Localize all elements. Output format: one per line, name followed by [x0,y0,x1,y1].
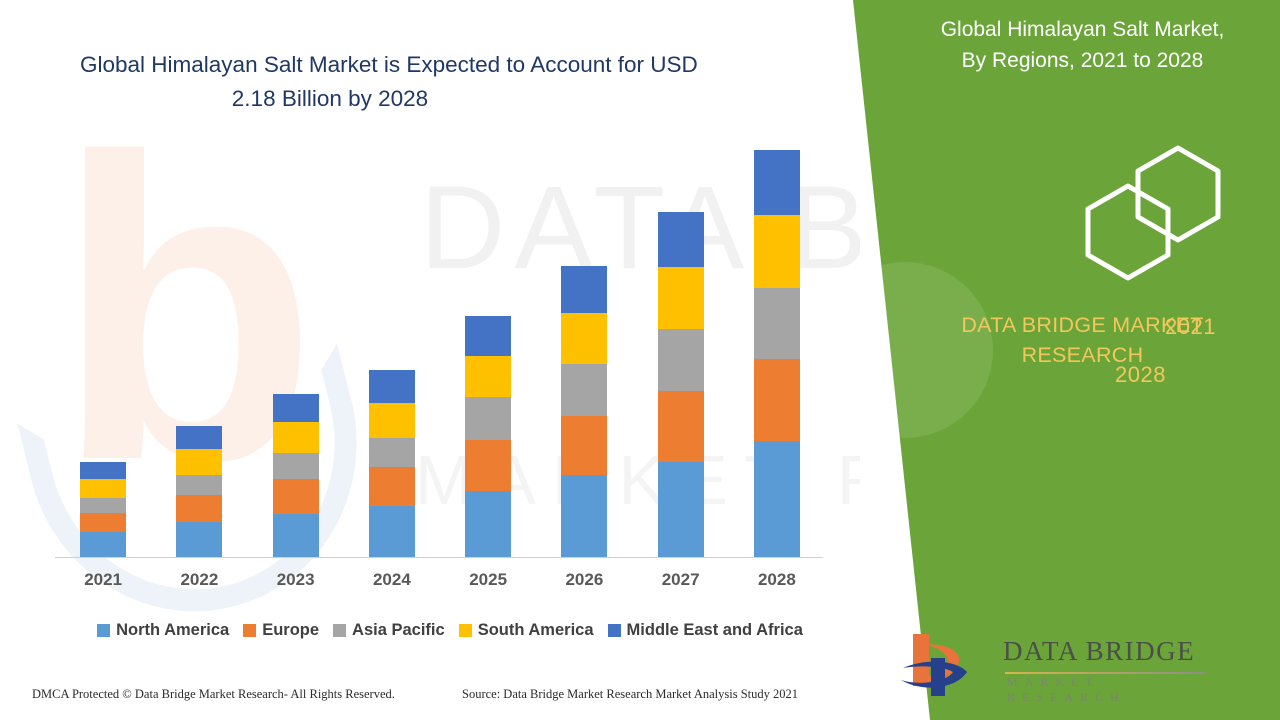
panel-title-line1: Global Himalayan Salt Market, [890,14,1275,45]
hexagon-badges: 2021 2028 [980,140,1270,290]
legend-item[interactable]: Asia Pacific [333,621,445,640]
hexagon-outlines-icon [980,140,1270,290]
bar-segment [369,370,415,403]
bar-segment [369,467,415,507]
x-axis-tick: 2026 [561,570,607,590]
legend-label: Europe [262,621,319,640]
legend-item[interactable]: South America [459,621,594,640]
legend-swatch-icon [333,624,346,637]
bar-segment [658,329,704,391]
bar-column [561,266,607,557]
bar-segment [561,475,607,557]
bar-segment [754,215,800,288]
bar-segment [80,462,126,479]
page-title-line1: Global Himalayan Salt Market is Expected… [80,52,698,77]
bar-segment [465,356,511,397]
bar-segment [754,359,800,441]
bar-column [176,426,222,557]
data-bridge-logo-icon [895,628,995,700]
legend-swatch-icon [459,624,472,637]
brand-name-line2: RESEARCH [890,340,1275,370]
page-title: Global Himalayan Salt Market is Expected… [80,48,780,116]
bar-segment [561,416,607,475]
x-axis-tick: 2024 [369,570,415,590]
copyright-notice: DMCA Protected © Data Bridge Market Rese… [32,687,395,702]
x-axis-line [55,557,823,558]
bar-segment [273,514,319,557]
bar-segment [176,426,222,450]
bar-segment [754,441,800,557]
bar-segment [80,479,126,498]
bar-segment [176,522,222,557]
x-axis-tick-labels: 20212022202320242025202620272028 [55,565,825,595]
x-axis-tick: 2021 [80,570,126,590]
brand-name: DATA BRIDGE MARKET RESEARCH [890,310,1275,370]
legend-item[interactable]: Europe [243,621,319,640]
bar-segment [80,513,126,532]
legend-item[interactable]: North America [97,621,229,640]
bar-segment [561,266,607,314]
logo-tagline: MARKET RESEARCH [1007,675,1225,705]
bar-segment [754,288,800,359]
chart-legend: North AmericaEuropeAsia PacificSouth Ame… [55,615,845,645]
stacked-bar-chart [55,150,825,558]
bar-column [80,462,126,557]
legend-item[interactable]: Middle East and Africa [608,621,803,640]
bar-segment [176,449,222,474]
page-title-line2: 2.18 Billion by 2028 [80,82,780,116]
x-axis-tick: 2023 [273,570,319,590]
legend-swatch-icon [243,624,256,637]
bar-segment [80,532,126,557]
legend-swatch-icon [97,624,110,637]
bar-column [465,316,511,557]
bar-segment [273,394,319,423]
bar-segment [658,212,704,267]
bar-segment [658,391,704,462]
bar-segment [273,422,319,452]
panel-title: Global Himalayan Salt Market, By Regions… [890,14,1275,76]
bar-segment [561,313,607,364]
bar-column [273,394,319,557]
bar-column [369,370,415,557]
bar-segment [465,397,511,440]
bar-segment [80,498,126,512]
x-axis-tick: 2022 [176,570,222,590]
chart-plot-area [55,150,825,557]
source-notice: Source: Data Bridge Market Research Mark… [462,687,798,702]
logo-wordmark: DATA BRIDGE [1003,636,1195,667]
footer: DMCA Protected © Data Bridge Market Rese… [0,683,860,715]
bar-segment [465,440,511,491]
bar-column [754,150,800,557]
legend-label: South America [478,621,594,640]
logo-divider [1005,672,1205,674]
bar-segment [754,150,800,215]
brand-panel-content: Global Himalayan Salt Market, By Regions… [880,0,1280,720]
x-axis-tick: 2027 [658,570,704,590]
bar-segment [369,438,415,467]
bar-segment [561,364,607,416]
bar-column [658,212,704,557]
brand-name-line1: DATA BRIDGE MARKET [890,310,1275,340]
bar-segment [273,453,319,480]
x-axis-tick: 2028 [754,570,800,590]
legend-label: North America [116,621,229,640]
bar-segment [465,491,511,558]
bar-segment [465,316,511,356]
bar-segment [176,495,222,522]
company-logo: DATA BRIDGE MARKET RESEARCH [895,628,1225,704]
bar-segment [658,267,704,329]
bar-segment [369,403,415,438]
legend-swatch-icon [608,624,621,637]
x-axis-tick: 2025 [465,570,511,590]
bar-segment [369,506,415,557]
legend-label: Asia Pacific [352,621,445,640]
bar-segment [176,475,222,496]
bar-segment [658,462,704,557]
panel-title-line2: By Regions, 2021 to 2028 [890,45,1275,76]
chart-panel: Global Himalayan Salt Market is Expected… [0,0,880,720]
bar-segment [273,479,319,514]
legend-label: Middle East and Africa [627,621,803,640]
